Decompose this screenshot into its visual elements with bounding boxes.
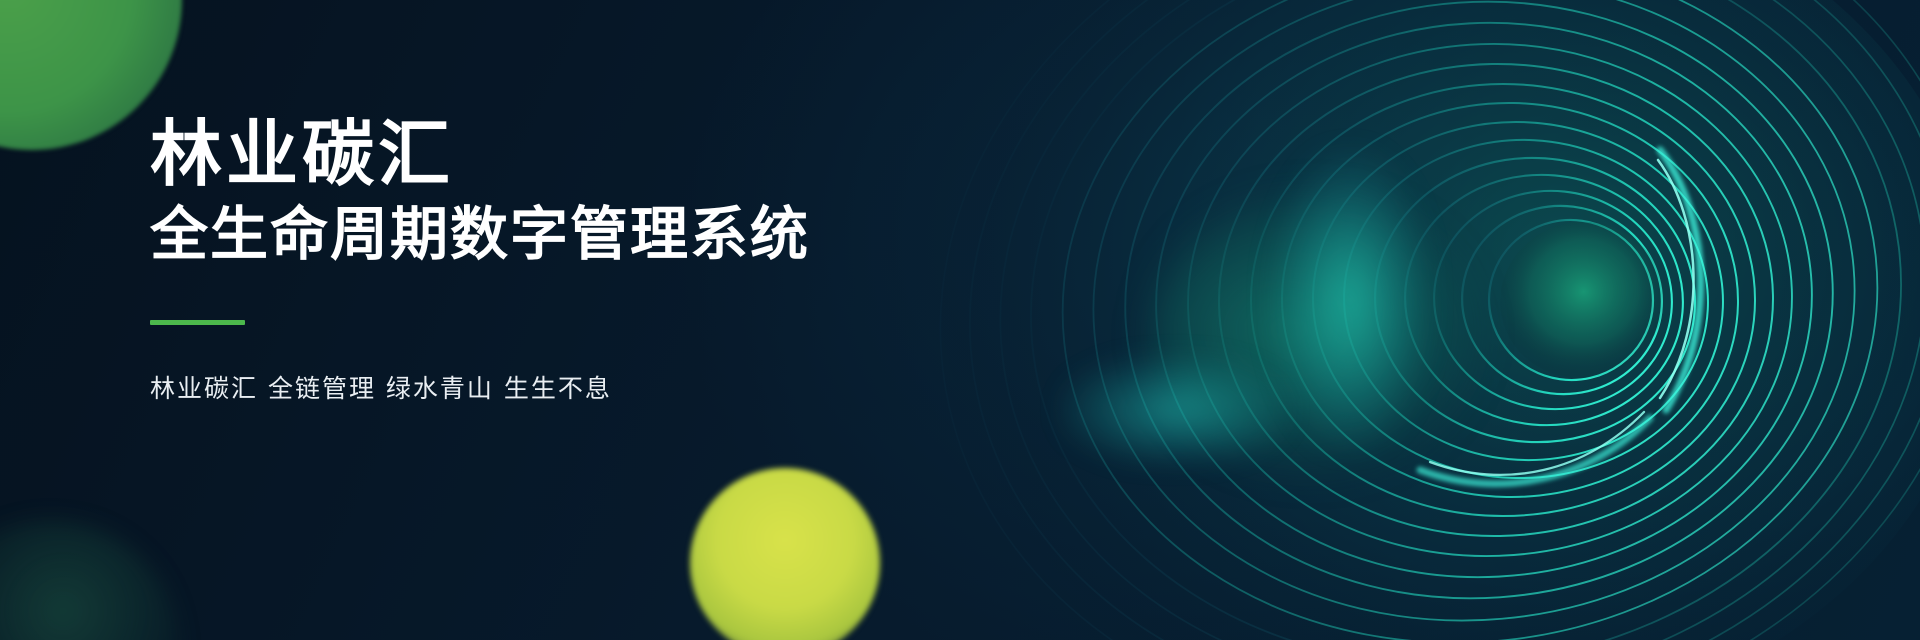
- page-subtitle: 全生命周期数字管理系统: [150, 200, 810, 268]
- vortex-rings-decoration: [860, 0, 1920, 640]
- vortex-lower-streak: [1060, 355, 1290, 465]
- yellow-green-circle-decoration: [690, 468, 880, 640]
- title-divider: [150, 320, 245, 325]
- hero-tagline: 林业碳汇 全链管理 绿水青山 生生不息: [150, 369, 810, 405]
- hero-banner: 林业碳汇 全生命周期数字管理系统 林业碳汇 全链管理 绿水青山 生生不息: [0, 0, 1920, 640]
- teal-glow-decoration: [0, 520, 180, 640]
- vortex-bright-streak: [1270, 150, 1430, 450]
- vortex-core-glow: [1150, 195, 1480, 475]
- page-title: 林业碳汇: [150, 116, 810, 194]
- hero-text-block: 林业碳汇 全生命周期数字管理系统 林业碳汇 全链管理 绿水青山 生生不息: [150, 116, 810, 405]
